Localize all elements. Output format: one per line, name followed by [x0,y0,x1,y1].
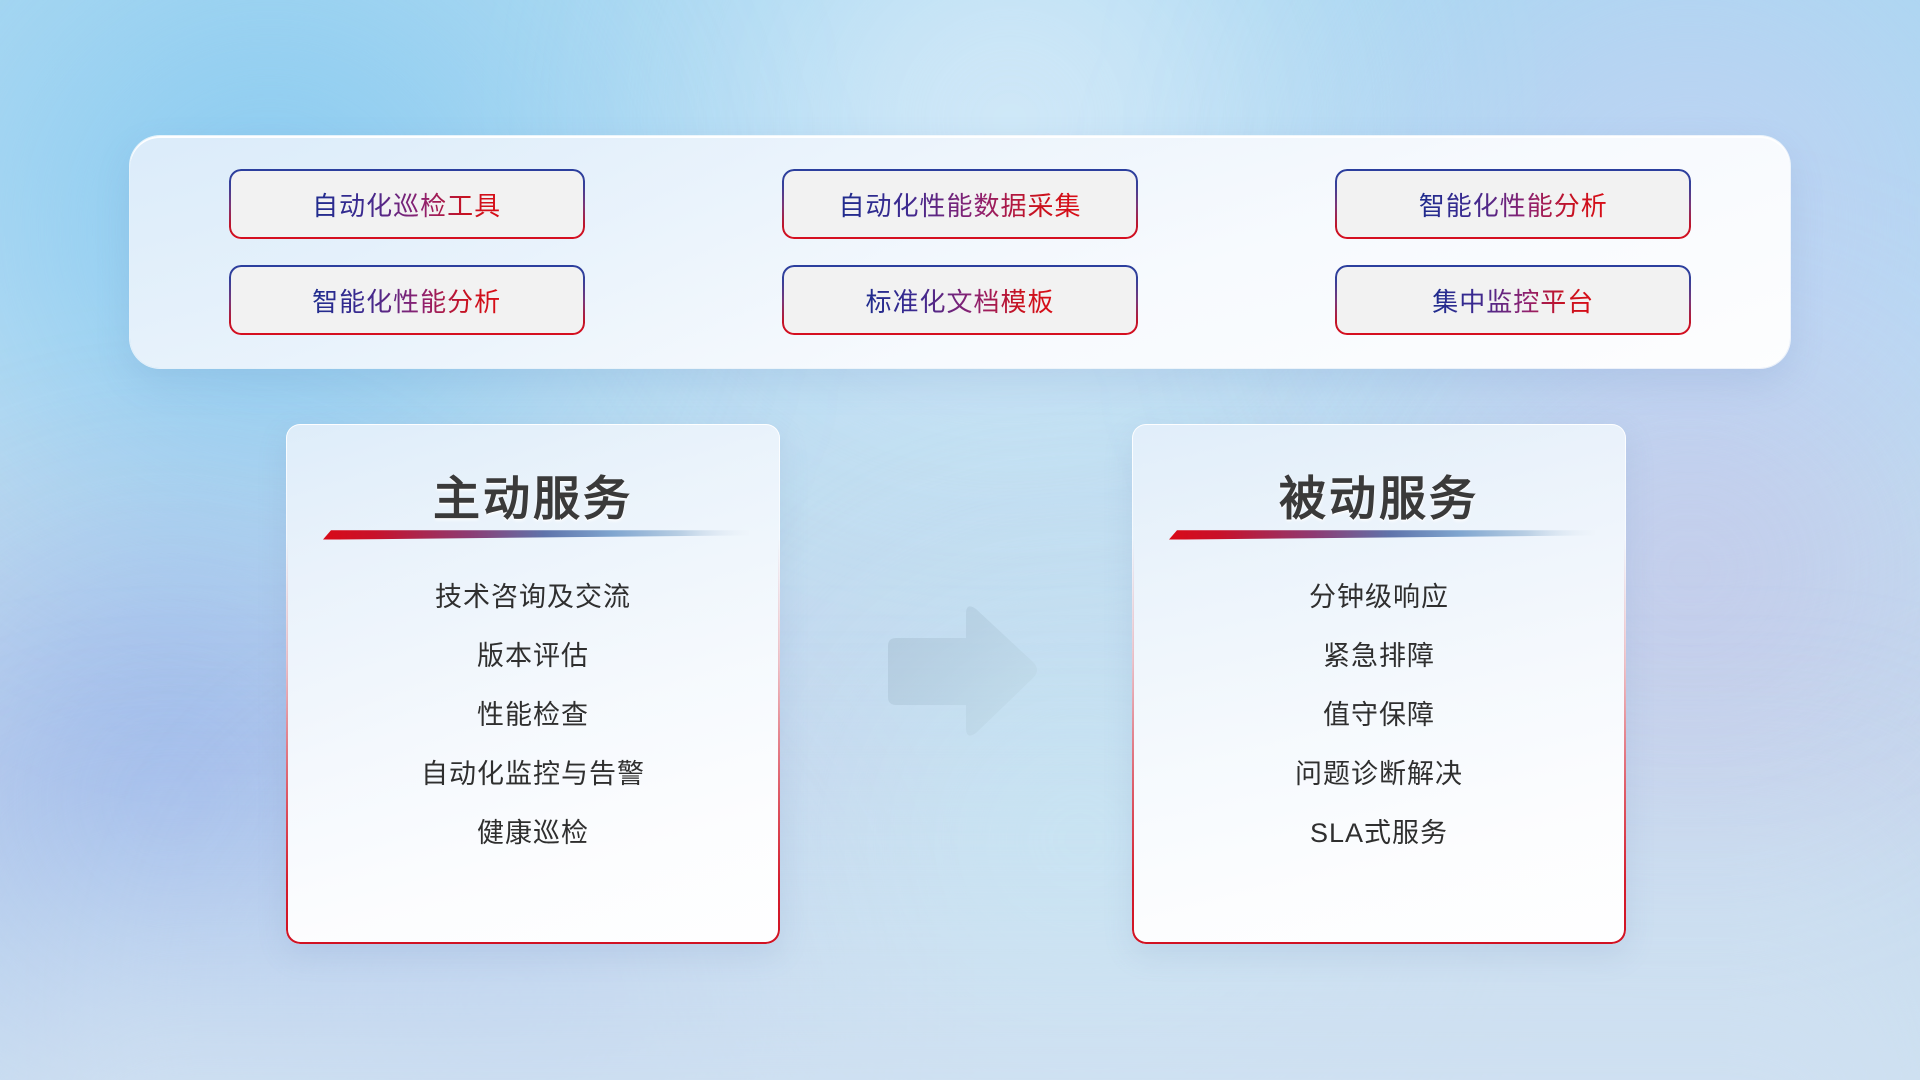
tool-chip-centralized-monitoring-platform[interactable]: 集中监控平台 [1335,265,1691,335]
service-card-reactive: 被动服务 分钟级响应 紧急排障 [1132,424,1626,944]
tool-chip-label: 智能化性能分析 [1419,186,1608,223]
list-item: 紧急排障 [1323,627,1435,686]
list-item: 问题诊断解决 [1295,745,1463,804]
list-item: 技术咨询及交流 [435,568,631,627]
service-card-proactive: 主动服务 技术咨询及交流 版本评估 [286,424,780,944]
list-item: 自动化监控与告警 [421,745,645,804]
list-item: 健康巡检 [477,804,589,863]
list-item: 性能检查 [477,686,589,745]
tool-chip-label: 自动化性能数据采集 [838,186,1081,223]
list-item: 版本评估 [477,627,589,686]
list-item: 分钟级响应 [1309,568,1449,627]
card-title-proactive: 主动服务 [286,460,780,529]
tool-chip-intelligent-perf-analysis-b[interactable]: 智能化性能分析 [229,265,585,335]
service-list-proactive: 技术咨询及交流 版本评估 性能检查 自动化监控与告警 健康巡检 [286,568,780,863]
tool-chip-label: 集中监控平台 [1432,282,1594,319]
tool-chip-intelligent-perf-analysis-a[interactable]: 智能化性能分析 [1335,169,1691,239]
arrow-right-icon [880,600,1040,744]
card-divider-proactive [317,528,749,540]
tool-chip-automated-perf-collection[interactable]: 自动化性能数据采集 [782,169,1138,239]
capability-tools-grid: 自动化巡检工具 自动化性能数据采集 智能化性能分析 智能化性能分析 标准化文档模… [130,136,1790,368]
service-list-reactive: 分钟级响应 紧急排障 值守保障 问题诊断解决 SLA式服务 [1132,568,1626,863]
tool-chip-label: 自动化巡检工具 [312,186,501,223]
list-item: SLA式服务 [1310,804,1448,863]
list-item: 值守保障 [1323,686,1435,745]
capability-tools-panel: 自动化巡检工具 自动化性能数据采集 智能化性能分析 智能化性能分析 标准化文档模… [130,136,1790,368]
card-title-reactive: 被动服务 [1132,460,1626,529]
card-divider-reactive [1163,528,1595,540]
tool-chip-standardized-doc-template[interactable]: 标准化文档模板 [782,265,1138,335]
tool-chip-label: 标准化文档模板 [865,282,1054,319]
tool-chip-automated-inspection[interactable]: 自动化巡检工具 [229,169,585,239]
diagram-stage: 自动化巡检工具 自动化性能数据采集 智能化性能分析 智能化性能分析 标准化文档模… [0,0,1920,1080]
tool-chip-label: 智能化性能分析 [312,282,501,319]
